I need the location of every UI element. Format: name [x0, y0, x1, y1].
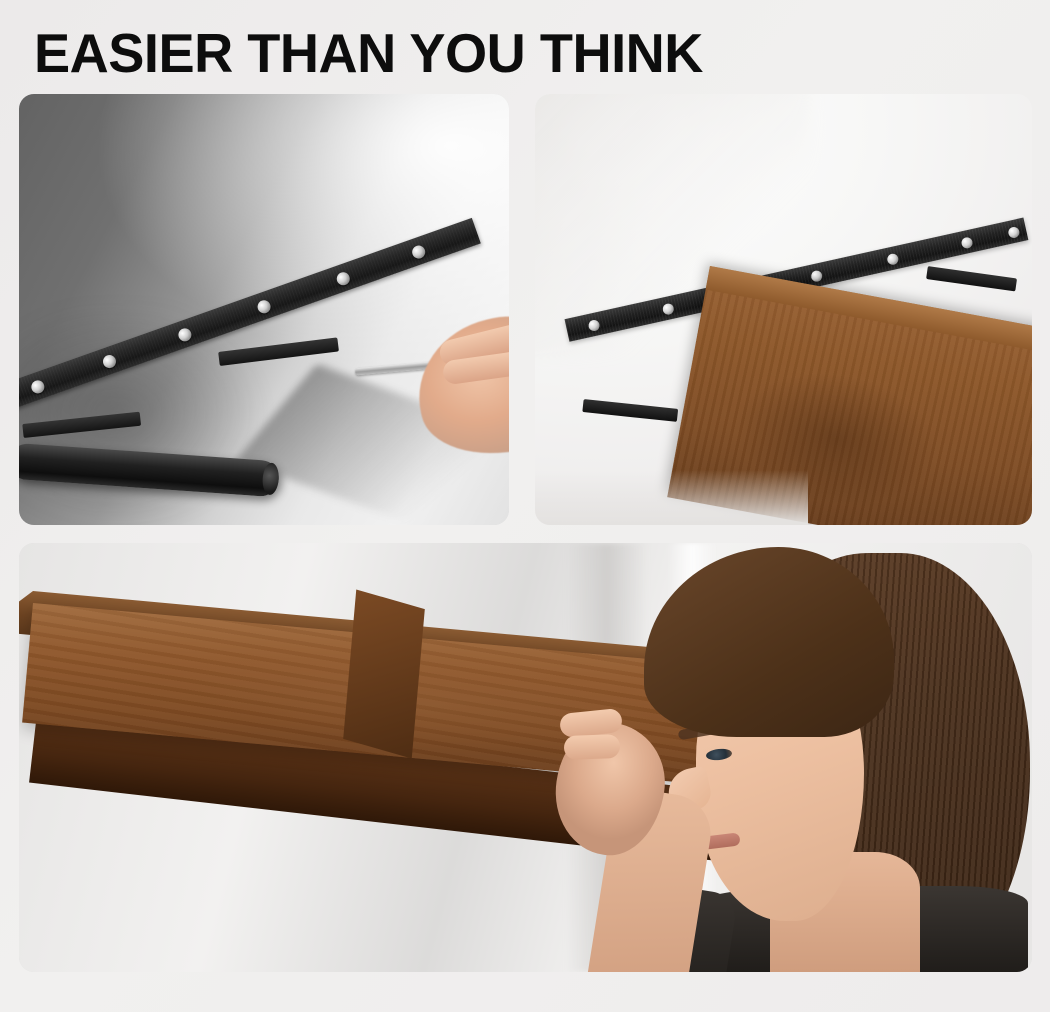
title-bar: EASIER THAN YOU THINK [34, 22, 994, 84]
secure-with-set-screws-photo [19, 543, 1032, 972]
rail-screw [587, 318, 600, 331]
rail-screw [101, 353, 118, 370]
shelf-end-cap [343, 589, 425, 758]
infographic-root: EASIER THAN YOU THINK [0, 0, 1050, 1012]
rail-screw [960, 236, 973, 249]
hand-finger [564, 734, 621, 760]
rail-screw [1007, 225, 1020, 238]
rail-screw [886, 252, 899, 265]
rail-screw [810, 269, 823, 282]
mount-brackets-photo [19, 94, 509, 525]
rail-screw [335, 270, 352, 287]
rail-screw [410, 243, 427, 260]
floor-gradient [535, 470, 808, 525]
rail-screw [29, 378, 46, 395]
page-title: EASIER THAN YOU THINK [34, 24, 703, 82]
secure-with-set-screws-panel[interactable]: 3. Secure With Set Screws [19, 543, 1032, 972]
slide-onto-brackets-panel[interactable]: 2. Slide Onto Brackets [535, 94, 1032, 525]
mount-brackets-panel[interactable]: 1. Mount Brackets [19, 94, 509, 525]
rail-screw [662, 302, 675, 315]
rail-screw [176, 326, 193, 343]
slide-onto-brackets-photo [535, 94, 1032, 525]
rail-screw [256, 298, 273, 315]
